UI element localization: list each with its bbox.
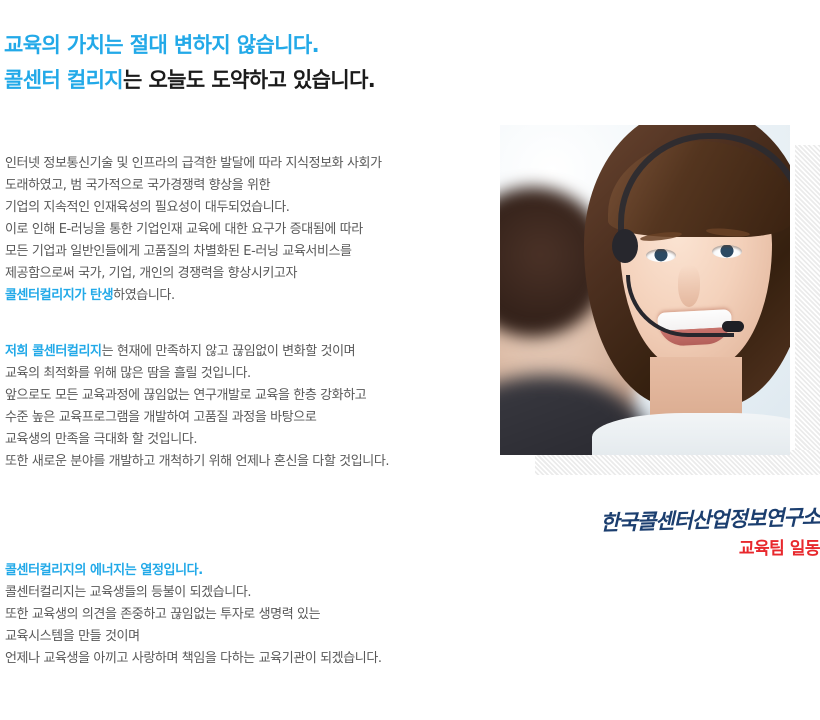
signature-block: 한국콜센터산업정보연구소 교육팀 일동 <box>540 500 820 562</box>
headline-line-2-rest: 는 오늘도 도약하고 있습니다. <box>123 68 375 92</box>
energy-paragraph: 콜센터컬리지의 에너지는 열정입니다. 콜센터컬리지는 교육생들의 등불이 되겠… <box>5 560 495 670</box>
photo-block <box>500 125 820 475</box>
commitment-paragraph: 저희 콜센터컬리지는 현재에 만족하지 않고 끊임없이 변화할 것이며 교육의 … <box>5 341 495 473</box>
paragraph1-final-line: 콜센터컬리지가 탄생하였습니다. <box>5 285 495 307</box>
paragraph1-line: 도래하였고, 범 국가적으로 국가경쟁력 향상을 위한 <box>5 175 495 197</box>
photo-eye-left <box>646 249 676 262</box>
intro-paragraph: 인터넷 정보통신기술 및 인프라의 급격한 발달에 따라 지식정보화 사회가 도… <box>5 153 495 307</box>
paragraph1-line: 인터넷 정보통신기술 및 인프라의 급격한 발달에 따라 지식정보화 사회가 <box>5 153 495 175</box>
headset-earpiece-icon <box>612 229 638 263</box>
headline-line-2: 콜센터 컬리지는 오늘도 도약하고 있습니다. <box>4 63 504 98</box>
paragraph1-line: 제공함으로써 국가, 기업, 개인의 경쟁력을 향상시키고자 <box>5 263 495 285</box>
paragraph3-line: 콜센터컬리지는 교육생들의 등불이 되겠습니다. <box>5 582 495 604</box>
headline-brand-name: 콜센터 컬리지 <box>4 68 123 92</box>
paragraph2-line: 또한 새로운 분야를 개발하고 개척하기 위해 언제나 혼신을 다할 것입니다. <box>5 451 495 473</box>
page-headline: 교육의 가치는 절대 변하지 않습니다. 콜센터 컬리지는 오늘도 도약하고 있… <box>4 28 504 98</box>
headset-microphone-tip-icon <box>722 321 744 332</box>
paragraph3-line: 언제나 교육생을 아끼고 사랑하며 책임을 다하는 교육기관이 되겠습니다. <box>5 648 495 670</box>
paragraph3-line: 또한 교육생의 의견을 존중하고 끊임없는 투자로 생명력 있는 <box>5 604 495 626</box>
paragraph3-line: 교육시스템을 만들 것이며 <box>5 626 495 648</box>
paragraph2-line: 교육생의 만족을 극대화 할 것입니다. <box>5 429 495 451</box>
headline-line-1: 교육의 가치는 절대 변하지 않습니다. <box>4 28 504 63</box>
paragraph2-line: 교육의 최적화를 위해 많은 땀을 흘릴 것입니다. <box>5 363 495 385</box>
paragraph1-line: 모든 기업과 일반인들에게 고품질의 차별화된 E-러닝 교육서비스를 <box>5 241 495 263</box>
call-center-agent-photo <box>500 125 790 455</box>
paragraph1-highlight: 콜센터컬리지가 탄생 <box>5 288 113 303</box>
headline-line-1-text: 교육의 가치는 절대 변하지 않습니다. <box>4 33 319 57</box>
paragraph1-final-rest: 하였습니다. <box>113 288 175 303</box>
paragraph2-first-line: 저희 콜센터컬리지는 현재에 만족하지 않고 끊임없이 변화할 것이며 <box>5 341 495 363</box>
paragraph2-line: 수준 높은 교육프로그램을 개발하여 고품질 과정을 바탕으로 <box>5 407 495 429</box>
paragraph2-highlight: 저희 콜센터컬리지 <box>5 344 102 359</box>
paragraph2-line: 앞으로도 모든 교육과정에 끊임없는 연구개발로 교육을 한층 강화하고 <box>5 385 495 407</box>
photo-shirt <box>592 413 790 455</box>
paragraph1-line: 이로 인해 E-러닝을 통한 기업인재 교육에 대한 요구가 증대됨에 따라 <box>5 219 495 241</box>
paragraph3-heading: 콜센터컬리지의 에너지는 열정입니다. <box>5 560 495 582</box>
hatch-decoration-right <box>795 145 820 457</box>
paragraph2-first-rest: 는 현재에 만족하지 않고 끊임없이 변화할 것이며 <box>102 344 356 359</box>
paragraph1-line: 기업의 지속적인 인재육성의 필요성이 대두되었습니다. <box>5 197 495 219</box>
